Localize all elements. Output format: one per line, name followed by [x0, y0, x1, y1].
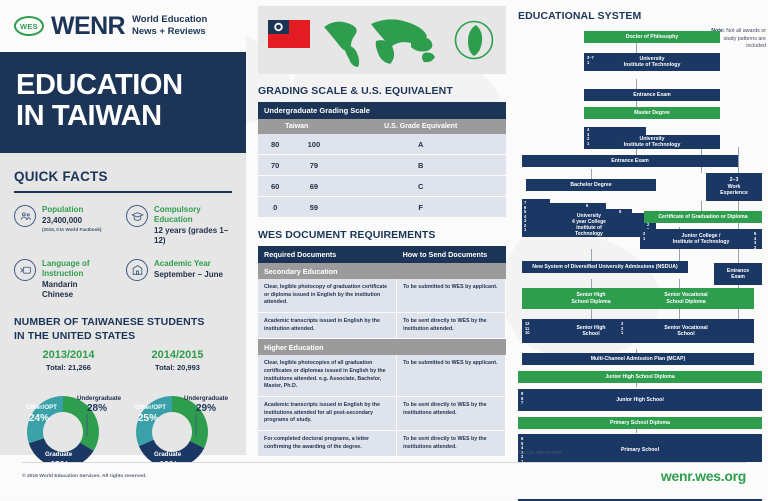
brand-bar: WES WENR World Education News + Reviews — [0, 0, 246, 52]
donut-subtitle: Total: 21,266 — [14, 363, 123, 372]
quick-facts-section: QUICK FACTS Population 23,400,000 (2015,… — [0, 153, 246, 306]
wes-logo-icon: WES — [14, 16, 44, 36]
doc-how: To be submitted to WES by applicant. — [397, 279, 506, 313]
donut-label-graduate: Graduate — [154, 451, 182, 458]
box-university-master: University Institute of Technology — [584, 135, 720, 149]
edu-system-source: Source: AEI NOOSR — [518, 450, 562, 455]
grade-letter: F — [335, 197, 506, 218]
page-title-line-1: EDUCATION — [16, 69, 183, 101]
documents-section-header: Higher Education — [258, 339, 506, 356]
grading-table: Undergraduate Grading Scale Taiwan U.S. … — [258, 102, 506, 218]
box-university-doctoral: University Institute of Technology — [584, 53, 720, 71]
doc-how: To be sent directly to WES by the instit… — [397, 313, 506, 339]
donut-label-undergraduate: Undergraduate — [77, 395, 122, 402]
box-senior-vocational-school: Senior Vocational School — [618, 319, 754, 343]
grade-min: 70 — [258, 155, 292, 176]
grading-heading: GRADING SCALE & U.S. EQUIVALENT — [258, 85, 506, 97]
box-junior-college: Junior College / Institute of Technology — [640, 229, 762, 249]
box-primary-school-diploma: Primary School Diploma — [518, 417, 762, 429]
years-senior-high: 12 11 10 — [525, 322, 530, 336]
connector — [636, 79, 637, 89]
quick-fact-academic-year: Academic Year September – June — [126, 259, 232, 300]
quick-fact-note: (2015, CIA World Factbook) — [42, 227, 101, 232]
flag-sun-icon — [268, 20, 289, 34]
table-row: For completed doctoral programs, a lette… — [258, 431, 506, 457]
quick-fact-value: Mandarin Chinese — [42, 280, 90, 301]
footer-divider — [22, 462, 746, 463]
flag-canton — [268, 20, 289, 34]
flag-and-map-banner — [258, 6, 506, 74]
school-building-icon — [126, 259, 148, 281]
documents-table: Required Documents How to Send Documents… — [258, 246, 506, 457]
box-entrance-exam-junior-college: Entrance Exam — [714, 263, 762, 285]
box-mcap: Multi-Channel Admission Plan (MCAP) — [522, 353, 754, 365]
population-icon — [14, 205, 36, 227]
donut-subtitle: Total: 20,993 — [123, 363, 232, 372]
quick-fact-label: Academic Year — [154, 259, 223, 269]
donut-value-undergraduate: 28% — [87, 403, 107, 414]
grade-max: 59 — [292, 197, 335, 218]
connector — [679, 309, 680, 319]
students-chart-section: NUMBER OF TAIWANESE STUDENTS IN THE UNIT… — [0, 306, 246, 482]
years-university-master: 4 3 2 1 — [587, 128, 589, 146]
doc-how: To be sent directly to WES by the instit… — [397, 397, 506, 431]
wenr-url-link[interactable]: wenr.wes.org — [661, 468, 746, 484]
tagline-line-2: News + Reviews — [132, 26, 207, 38]
years-junior-college-right: 5 4 3 2 1 — [754, 232, 756, 255]
grading-table-title: Undergraduate Grading Scale — [258, 102, 506, 119]
box-doctor-of-philosophy: Doctor of Philosophy — [584, 31, 720, 43]
donut-value-other: 24% — [29, 413, 49, 424]
grading-table-header: Taiwan U.S. Grade Equivalent — [258, 119, 506, 134]
doc-required: Academic transcripts issued in English b… — [258, 397, 397, 431]
doc-required: Academic transcripts issued in English b… — [258, 313, 397, 339]
grade-letter: A — [335, 134, 506, 155]
quick-fact-population: Population 23,400,000 (2015, CIA World F… — [14, 205, 120, 246]
table-row: Academic transcripts issued in English b… — [258, 397, 506, 431]
table-row: Academic transcripts issued in English b… — [258, 313, 506, 339]
edu-system-column: EDUCATIONAL SYSTEM Note: Not all awards … — [516, 0, 768, 460]
box-entrance-exam-doctoral: Entrance Exam — [584, 89, 720, 101]
table-row: 0 59 F — [258, 197, 506, 218]
quick-fact-label: Language of Instruction — [42, 259, 90, 278]
doc-how: To be sent directly to WES by the instit… — [397, 431, 506, 457]
quick-fact-value: 23,400,000 — [42, 216, 101, 226]
donut-title: 2013/2014 — [14, 349, 123, 361]
box-junior-high-diploma: Junior High School Diploma — [518, 371, 762, 383]
quick-fact-label: Compulsory Education — [154, 205, 232, 224]
donut-label-graduate: Graduate — [45, 451, 73, 458]
box-master-degree: Master Degree — [584, 107, 720, 119]
wenr-tagline: World Education News + Reviews — [132, 14, 207, 37]
wes-logo-text: WES — [20, 22, 38, 31]
doc-required: Clear, legible photocopies of all gradua… — [258, 355, 397, 396]
years-university-bachelor-left: 7 6 5 4 3 2 1 — [524, 201, 526, 233]
box-junior-high-school: Junior High School — [518, 389, 762, 411]
left-column: WES WENR World Education News + Reviews … — [0, 0, 246, 455]
years-university-bachelor-5: 5 — [619, 210, 621, 215]
edu-system-diagram: Doctor of Philosophy University Institut… — [516, 27, 768, 447]
table-row: Clear, legible photocopy of graduation c… — [258, 279, 506, 313]
connector — [591, 249, 592, 261]
grade-min: 80 — [258, 134, 292, 155]
page-title-line-2: IN TAIWAN — [16, 100, 162, 132]
grade-letter: B — [335, 155, 506, 176]
students-heading-line-2: IN THE UNITED STATES — [14, 330, 135, 342]
documents-table-header: Required Documents How to Send Documents — [258, 246, 506, 263]
doc-section-secondary: Secondary Education — [258, 263, 506, 279]
quick-fact-label: Population — [42, 205, 101, 215]
connector — [679, 279, 680, 288]
quick-facts-heading: QUICK FACTS — [14, 169, 232, 184]
grade-max: 69 — [292, 176, 335, 197]
connector — [591, 309, 592, 319]
tagline-line-1: World Education — [132, 14, 207, 26]
box-nsdua: New System of Diversified University Adm… — [522, 261, 688, 273]
donut-value-other: 25% — [138, 413, 158, 424]
doc-required: For completed doctoral programs, a lette… — [258, 431, 397, 457]
middle-column: GRADING SCALE & U.S. EQUIVALENT Undergra… — [258, 0, 506, 457]
donut-title: 2014/2015 — [123, 349, 232, 361]
years-senior-vocational: 3 2 1 — [621, 322, 623, 336]
table-row: 70 79 B — [258, 155, 506, 176]
years-junior-college-left: 2 1 — [643, 232, 645, 241]
box-entrance-exam-master: Entrance Exam — [522, 155, 738, 167]
years-university-bachelor-6: 6 — [586, 204, 588, 209]
graduation-cap-icon — [126, 205, 148, 227]
title-block: EDUCATION IN TAIWAN — [0, 52, 246, 153]
grade-min: 0 — [258, 197, 292, 218]
quick-fact-value: September – June — [154, 270, 223, 280]
world-map-graphic — [316, 13, 466, 69]
quick-fact-compulsory-education: Compulsory Education 12 years (grades 1–… — [126, 205, 232, 246]
doc-col-how: How to Send Documents — [397, 246, 506, 263]
box-university-bachelor: University 4 year College Institute of T… — [522, 213, 656, 237]
box-certificate-of-graduation: Certificate of Graduation or Diploma — [644, 211, 762, 223]
table-row: 80 100 A — [258, 134, 506, 155]
documents-section-header: Secondary Education — [258, 263, 506, 279]
box-bachelor-degree: Bachelor Degree — [526, 179, 656, 191]
grade-letter: C — [335, 176, 506, 197]
quick-fact-language: Language of Instruction Mandarin Chinese — [14, 259, 120, 300]
documents-heading: WES DOCUMENT REQUIREMENTS — [258, 229, 506, 241]
copyright-text: © 2016 World Education Services. All rig… — [22, 474, 146, 479]
donut-label-other: Other/OPT — [26, 404, 57, 411]
taiwan-outline-icon — [454, 17, 494, 63]
grade-max: 79 — [292, 155, 335, 176]
quick-facts-grid: Population 23,400,000 (2015, CIA World F… — [14, 205, 232, 300]
donut-value-undergraduate: 29% — [196, 403, 216, 414]
quick-fact-value: 12 years (grades 1–12) — [154, 226, 232, 247]
students-heading-line-1: NUMBER OF TAIWANESE STUDENTS — [14, 316, 204, 328]
infographic-page: WES WENR World Education News + Reviews … — [0, 0, 768, 499]
doc-how: To be submitted to WES by applicant. — [397, 355, 506, 396]
doc-col-required: Required Documents — [258, 246, 397, 263]
quick-facts-divider — [14, 191, 232, 193]
edu-system-heading: EDUCATIONAL SYSTEM — [518, 10, 768, 22]
table-row: Clear, legible photocopies of all gradua… — [258, 355, 506, 396]
connector — [679, 249, 680, 261]
grade-max: 100 — [292, 134, 335, 155]
connector — [636, 43, 637, 53]
doc-required: Clear, legible photocopy of graduation c… — [258, 279, 397, 313]
grade-min: 60 — [258, 176, 292, 197]
students-heading: NUMBER OF TAIWANESE STUDENTS IN THE UNIT… — [14, 316, 232, 342]
connector — [591, 169, 592, 179]
box-work-experience: 2–3 Work Experience — [706, 173, 762, 201]
footer: © 2016 World Education Services. All rig… — [0, 462, 768, 499]
language-icon — [14, 259, 36, 281]
donut-label-undergraduate: Undergraduate — [184, 395, 229, 402]
donut-label-other: Other/OPT — [135, 404, 166, 411]
box-senior-vocational-diploma: Senior Vocational School Diploma — [618, 288, 754, 309]
table-row: 60 69 C — [258, 176, 506, 197]
taiwan-flag-icon — [268, 20, 310, 48]
connector — [591, 279, 592, 288]
doc-section-higher: Higher Education — [258, 339, 506, 356]
grading-col-taiwan: Taiwan — [258, 119, 335, 134]
years-junior-high: 9 8 7 — [521, 392, 523, 406]
grading-table-title-row: Undergraduate Grading Scale — [258, 102, 506, 119]
page-title: EDUCATION IN TAIWAN — [16, 70, 230, 131]
wenr-wordmark: WENR — [51, 12, 125, 41]
years-university-doctoral: 2–7 1 — [587, 56, 594, 65]
grading-col-us: U.S. Grade Equivalent — [335, 119, 506, 134]
